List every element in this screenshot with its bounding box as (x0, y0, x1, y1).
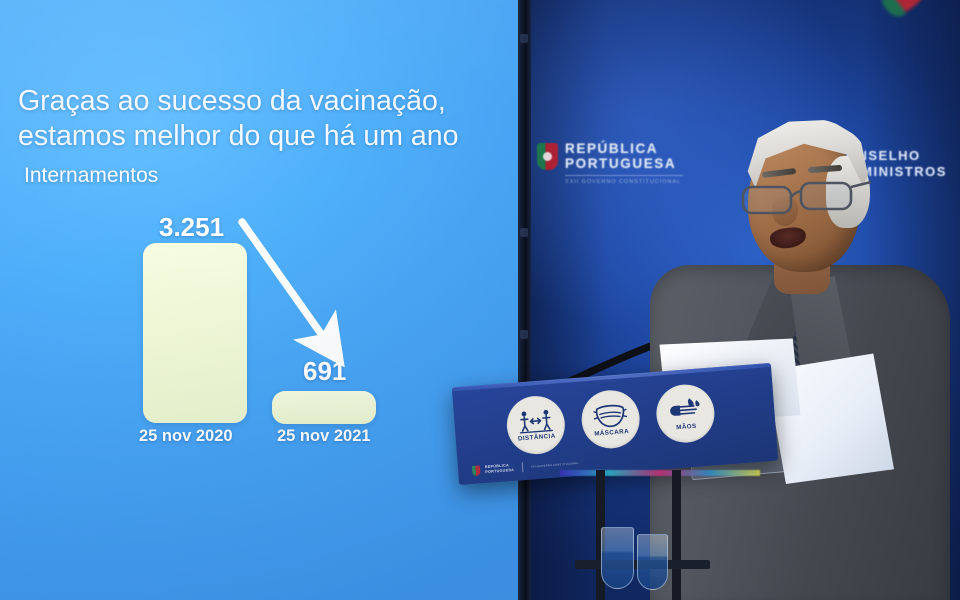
podium-light-strip (560, 470, 760, 476)
water-glass-1 (601, 527, 634, 589)
podium-leg-right (672, 470, 681, 600)
slide: Graças ao sucesso da vacinação, estamos … (0, 0, 518, 600)
covid-measures-icons: DISTÂNCIA MÁSCARA (505, 382, 717, 456)
bar-chart: 3.251 691 25 nov 2020 25 nov 2021 (0, 0, 518, 600)
podium-logo-divider (522, 462, 524, 472)
bar-category-2021: 25 nov 2021 (277, 427, 371, 446)
portugal-flag-icon (880, 0, 938, 28)
bar-2021 (272, 391, 376, 424)
distance-icon-label: DISTÂNCIA (518, 433, 556, 443)
screenshot-stage: REPÚBLICA PORTUGUESA XXII GOVERNO CONSTI… (0, 0, 960, 600)
bar-2020 (143, 243, 247, 423)
shield-icon (537, 143, 558, 170)
mask-icon (591, 401, 629, 430)
podium-logo-subtitle: XXII GOVERNO CONSTITUCIONAL (531, 461, 579, 468)
podium-shield-icon (472, 465, 481, 476)
hands-icon-label: MÃOS (676, 423, 697, 432)
eyeglasses-icon (740, 178, 874, 220)
water-glass-2 (637, 534, 668, 590)
bar-value-2021: 691 (303, 356, 346, 387)
hands-icon (666, 395, 704, 424)
mask-icon-badge: MÁSCARA (579, 388, 641, 450)
bar-value-2020: 3.251 (159, 212, 224, 243)
mask-icon-label: MÁSCARA (594, 428, 629, 438)
decline-arrow-icon (0, 0, 518, 600)
podium-logo-line-2: PORTUGUESA (485, 468, 514, 475)
hands-icon-badge: MÃOS (654, 382, 716, 444)
projection-screen: Graças ao sucesso da vacinação, estamos … (0, 0, 518, 600)
bar-category-2020: 25 nov 2020 (139, 427, 233, 446)
distance-icon-badge: DISTÂNCIA (505, 394, 567, 456)
projection-screen-frame: Graças ao sucesso da vacinação, estamos … (0, 0, 531, 600)
distance-icon (518, 408, 554, 435)
